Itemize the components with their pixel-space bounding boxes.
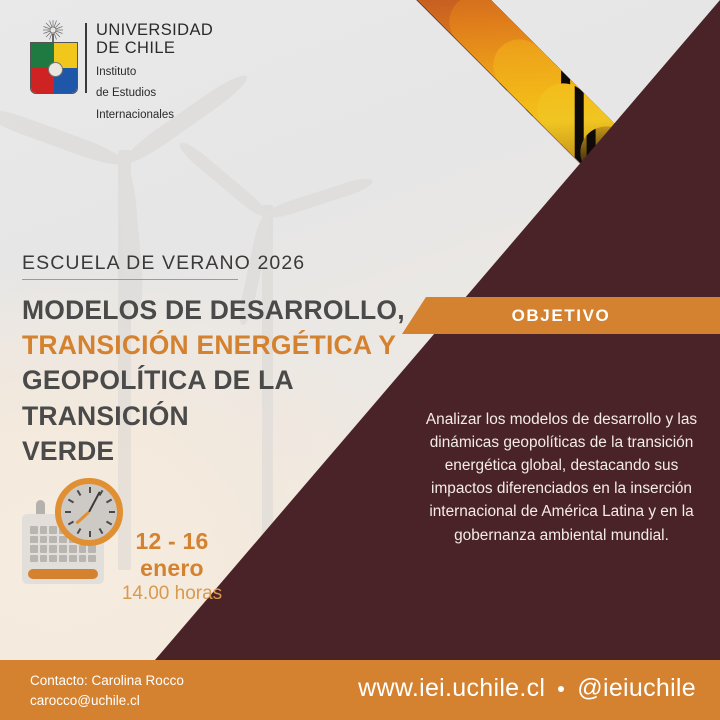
university-crest-icon xyxy=(30,20,76,94)
objective-text: Analizar los modelos de desarrollo y las… xyxy=(415,408,708,547)
separator-dot-icon xyxy=(558,686,564,692)
schedule-time: 14.00 horas xyxy=(112,583,232,605)
ghost-blade xyxy=(116,162,146,313)
title-line-2: TRANSICIÓN ENERGÉTICA Y xyxy=(22,328,422,363)
website-link[interactable]: www.iei.uchile.cl xyxy=(358,674,545,703)
kicker-divider xyxy=(22,279,238,280)
shield-center-medallion xyxy=(48,62,63,77)
contact-email[interactable]: carocco@uchile.cl xyxy=(30,691,184,711)
poster-canvas: UNIVERSIDAD DE CHILE Instituto de Estudi… xyxy=(0,0,720,720)
contact-name: Contacto: Carolina Rocco xyxy=(30,671,184,691)
footer-links: www.iei.uchile.cl @ieiuchile xyxy=(358,674,696,703)
schedule-block: 12 - 16 enero 14.00 horas xyxy=(112,528,232,605)
footer-bar: Contacto: Carolina Rocco carocco@uchile.… xyxy=(0,660,720,720)
schedule-dates: 12 - 16 enero xyxy=(112,528,232,582)
clock-hour-hand xyxy=(75,511,90,525)
title-line-3: GEOPOLÍTICA DE LA TRANSICIÓN xyxy=(22,363,422,433)
footer-contact: Contacto: Carolina Rocco carocco@uchile.… xyxy=(30,671,184,710)
objective-banner: OBJETIVO xyxy=(402,297,720,334)
logo-text: UNIVERSIDAD DE CHILE Instituto de Estudi… xyxy=(96,20,213,123)
university-logo: UNIVERSIDAD DE CHILE Instituto de Estudi… xyxy=(30,20,213,123)
logo-sub-2: de Estudios xyxy=(96,86,213,101)
logo-line-2: DE CHILE xyxy=(96,40,213,58)
event-kicker: ESCUELA DE VERANO 2026 xyxy=(22,252,305,275)
shield-icon xyxy=(30,42,78,94)
logo-sub-1: Instituto xyxy=(96,65,213,80)
logo-divider xyxy=(85,23,87,93)
clock-minute-hand xyxy=(88,491,101,512)
calendar-accent-bar xyxy=(28,569,98,579)
objective-banner-label: OBJETIVO xyxy=(512,306,611,326)
social-handle[interactable]: @ieiuchile xyxy=(577,674,696,703)
page-title: MODELOS DE DESARROLLO, TRANSICIÓN ENERGÉ… xyxy=(22,293,422,469)
logo-sub-3: Internacionales xyxy=(96,108,213,123)
title-line-1: MODELOS DE DESARROLLO, xyxy=(22,293,422,328)
logo-line-1: UNIVERSIDAD xyxy=(96,22,213,40)
title-line-4: VERDE xyxy=(22,434,422,469)
